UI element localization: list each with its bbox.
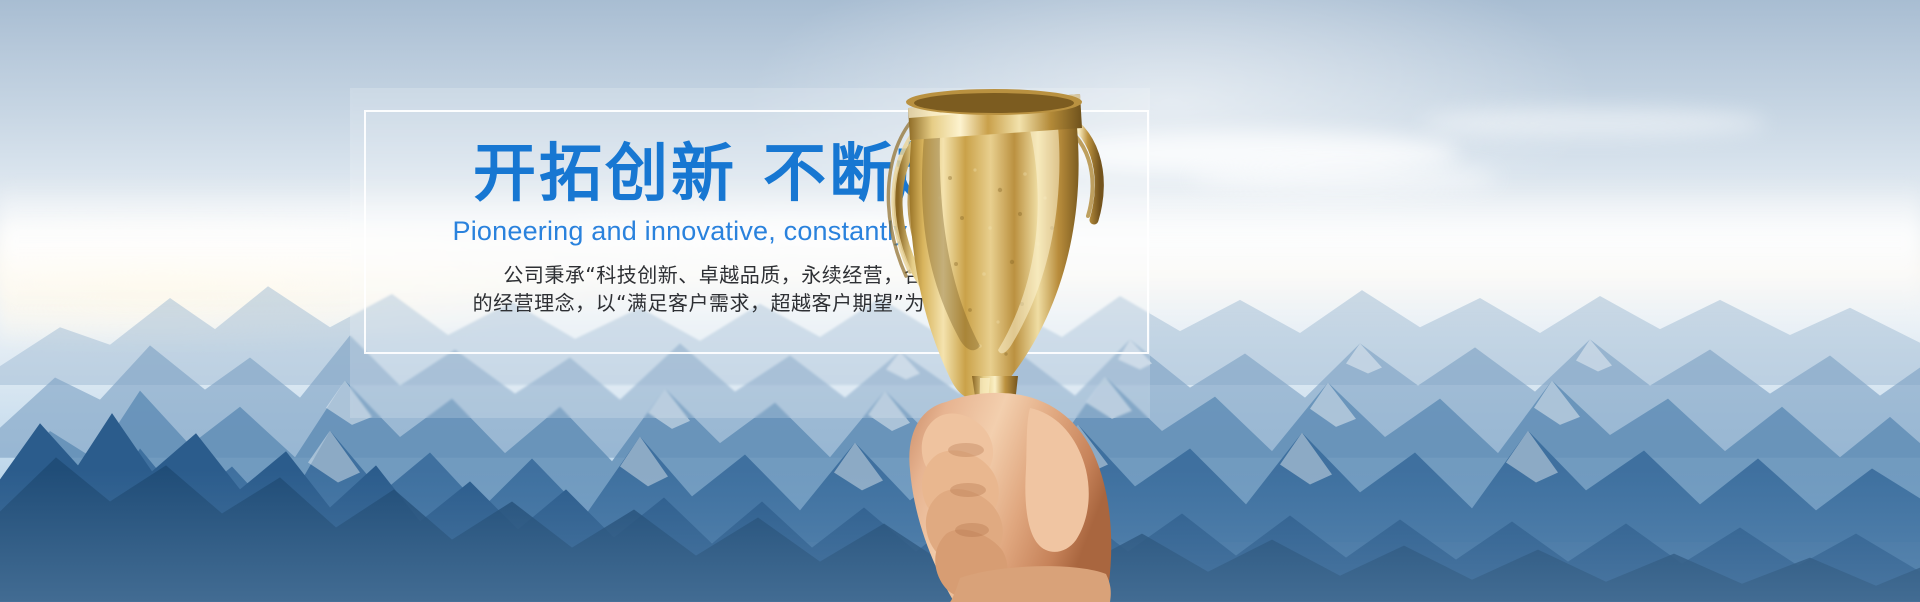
headline-part-1: 开拓创新 bbox=[473, 139, 737, 209]
hand-holding-gold-trophy bbox=[880, 78, 1210, 602]
hero-banner: 开拓创新不断超越 Pioneering and innovative, cons… bbox=[0, 0, 1920, 602]
